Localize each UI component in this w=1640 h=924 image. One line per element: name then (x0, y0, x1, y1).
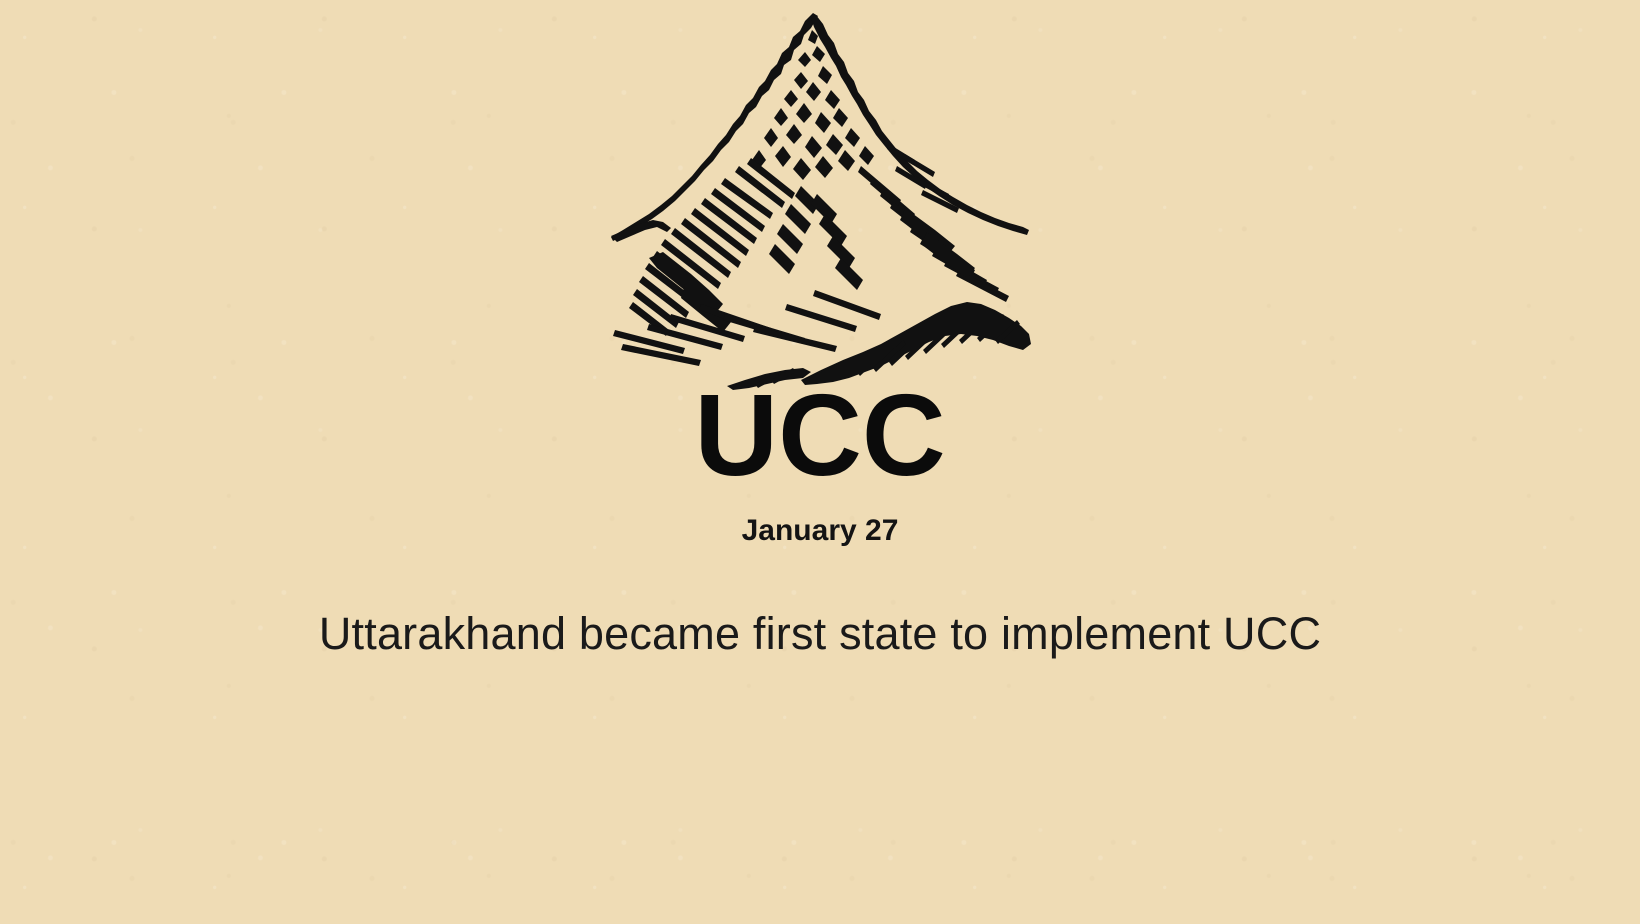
card-content: UCC January 27 Uttarakhand became first … (0, 0, 1640, 924)
mountain-peak-icon (605, 8, 1035, 390)
caption-text: Uttarakhand became first state to implem… (319, 546, 1321, 660)
page-title: UCC (694, 390, 945, 480)
news-card: UCC January 27 Uttarakhand became first … (0, 0, 1640, 924)
date-label: January 27 (742, 480, 899, 546)
